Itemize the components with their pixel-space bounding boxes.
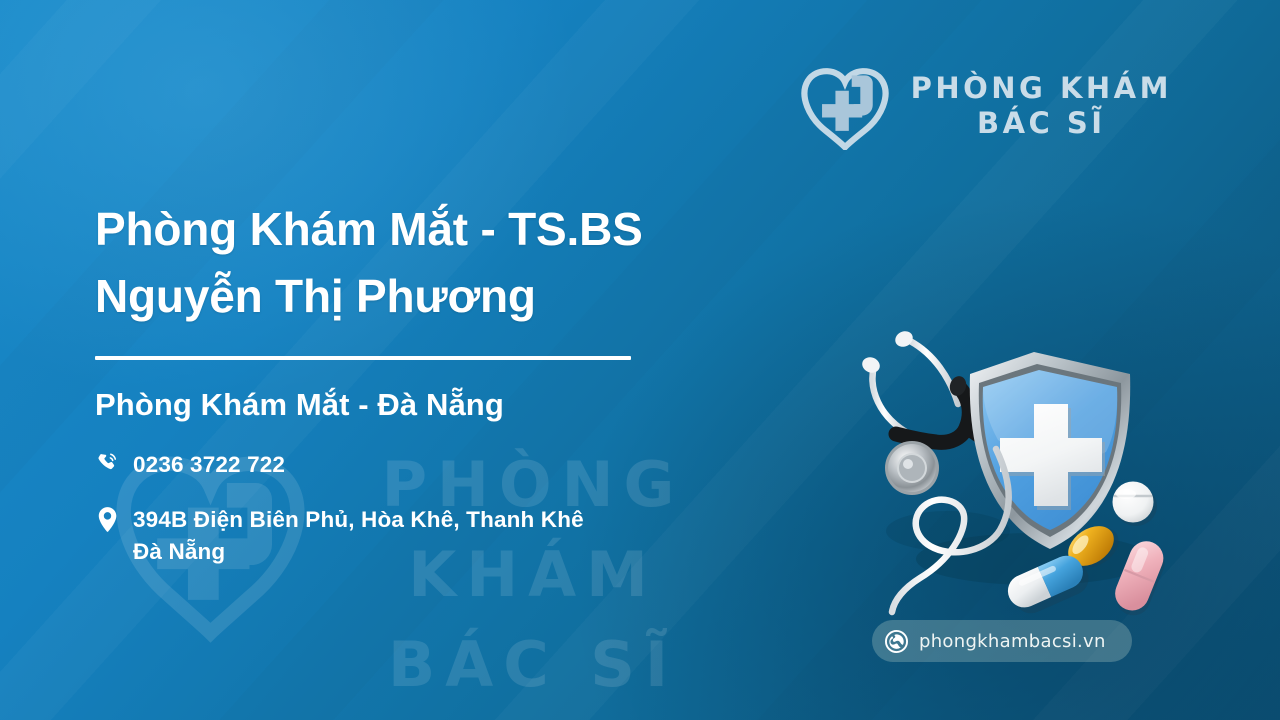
brand-text: PHÒNG KHÁM BÁC SĨ <box>911 71 1172 142</box>
address-row[interactable]: 394B Điện Biên Phủ, Hòa Khê, Thanh KhêĐà… <box>95 504 795 568</box>
clinic-banner: PHÒNG KHÁM BÁC SĨ PHÒNG KHÁM BÁC SĨ Phòn… <box>0 0 1280 720</box>
address-line-1: 394B Điện Biên Phủ, Hòa Khê, Thanh Khê <box>133 507 584 532</box>
clinic-subtitle: Phòng Khám Mắt - Đà Nẵng <box>95 387 795 423</box>
phone-row[interactable]: 0236 3722 722 <box>95 449 795 482</box>
white-round-tablet <box>1113 482 1158 527</box>
page-title-line-2: Nguyễn Thị Phương <box>95 270 536 322</box>
page-title-line-1: Phòng Khám Mắt - TS.BS <box>95 203 643 255</box>
page-title: Phòng Khám Mắt - TS.BSNguyễn Thị Phương <box>95 196 795 330</box>
brand-line-1: PHÒNG KHÁM <box>911 71 1172 106</box>
title-divider <box>95 356 631 360</box>
watermark-line2: BÁC SĨ <box>273 620 793 710</box>
address-text: 394B Điện Biên Phủ, Hòa Khê, Thanh KhêĐà… <box>133 504 584 568</box>
globe-icon <box>885 630 908 653</box>
brand-line-2: BÁC SĨ <box>911 106 1172 141</box>
website-url: phongkhambacsi.vn <box>919 631 1106 652</box>
medical-heart-cross-logo-icon <box>797 62 893 150</box>
location-pin-icon <box>95 504 119 537</box>
phone-icon <box>95 449 119 482</box>
address-line-2: Đà Nẵng <box>133 536 584 568</box>
website-badge[interactable]: phongkhambacsi.vn <box>872 620 1132 662</box>
stethoscope-shield-pills-illustration <box>838 316 1186 616</box>
clinic-info-block: Phòng Khám Mắt - TS.BSNguyễn Thị Phương … <box>95 196 795 568</box>
phone-number: 0236 3722 722 <box>133 449 285 481</box>
brand-logo: PHÒNG KHÁM BÁC SĨ <box>797 62 1172 150</box>
